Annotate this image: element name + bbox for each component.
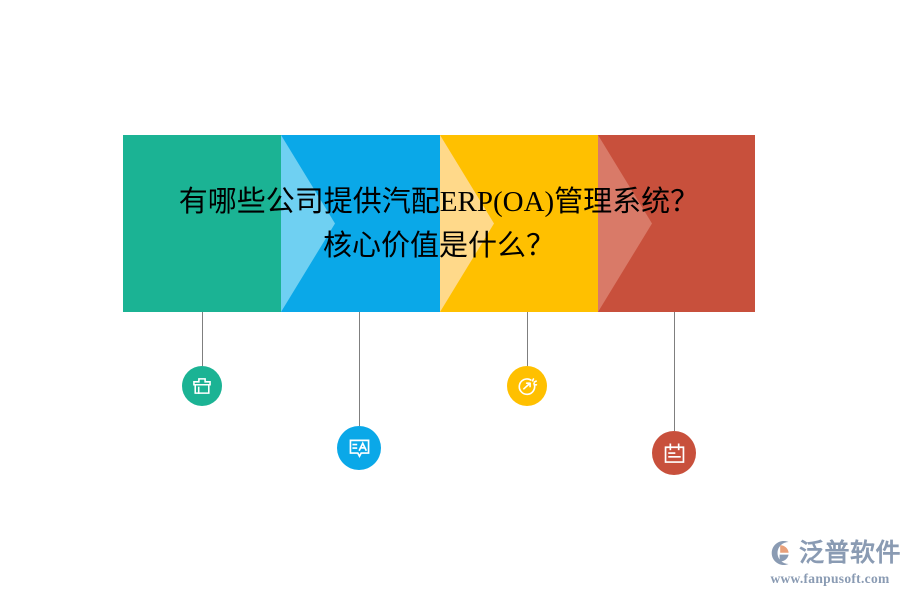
connector-line-performance bbox=[527, 312, 528, 366]
connector-line-translate bbox=[359, 312, 360, 426]
brand-name: 泛普软件 bbox=[799, 538, 900, 568]
fanpu-circle-logo-icon bbox=[766, 538, 796, 568]
store-icon bbox=[191, 375, 213, 397]
banner: 有哪些公司提供汽配ERP(OA)管理系统？ 核心价值是什么？ bbox=[123, 135, 755, 312]
poster-canvas: 有哪些公司提供汽配ERP(OA)管理系统？ 核心价值是什么？ bbox=[0, 0, 900, 600]
brand-logo: 泛普软件 www.fanpusoft.com bbox=[766, 536, 894, 588]
connector-line-memo bbox=[674, 312, 675, 431]
connector-line-store bbox=[202, 312, 203, 366]
node-memo[interactable] bbox=[652, 431, 696, 475]
banner-ribbon-graphic bbox=[123, 135, 755, 312]
banner-segment-green bbox=[123, 135, 281, 312]
node-store[interactable] bbox=[182, 366, 222, 406]
translate-speech-bubble-icon bbox=[347, 436, 372, 461]
speed-gauge-icon bbox=[516, 375, 539, 398]
notepad-icon bbox=[662, 441, 687, 466]
node-translate[interactable] bbox=[337, 426, 381, 470]
brand-url: www.fanpusoft.com bbox=[766, 571, 894, 587]
node-performance[interactable] bbox=[507, 366, 547, 406]
